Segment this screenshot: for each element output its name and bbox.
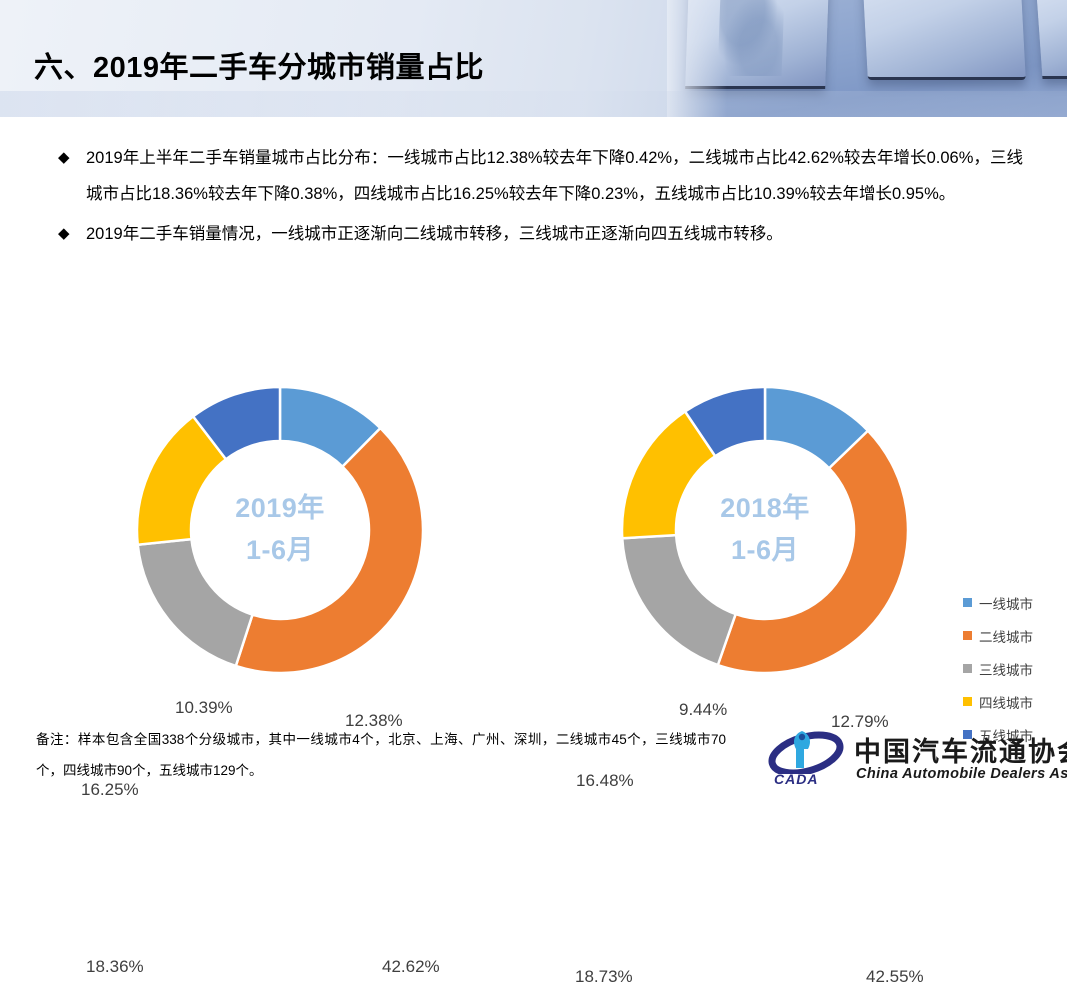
- list-item: ◆ 2019年二手车销量情况，一线城市正逐渐向二线城市转移，三线城市正逐渐向四五…: [58, 216, 1023, 252]
- legend-color-swatch: [963, 631, 972, 640]
- legend-item-label: 四线城市: [979, 692, 1033, 712]
- decorative-cube: [685, 0, 829, 89]
- decorative-cube: [862, 0, 1026, 80]
- list-item: ◆ 2019年上半年二手车销量城市占比分布：一线城市占比12.38%较去年下降0…: [58, 140, 1023, 212]
- footnote-text: 备注：样本包含全国338个分级城市，其中一线城市4个，北京、上海、广州、深圳，二…: [36, 724, 726, 786]
- donut-chart-2019: 2019年 1-6月: [134, 384, 426, 676]
- donut-chart-2018: 2018年 1-6月: [619, 384, 911, 676]
- legend-color-swatch: [963, 598, 972, 607]
- legend-color-swatch: [963, 697, 972, 706]
- legend-item-label: 三线城市: [979, 659, 1033, 679]
- diamond-bullet-icon: ◆: [58, 140, 86, 176]
- charts-container: 2019年 1-6月 12.38% 42.62% 18.36% 16.25% 1…: [0, 330, 1067, 710]
- legend-color-swatch: [963, 664, 972, 673]
- cada-abbreviation: CADA: [774, 771, 818, 787]
- page-title: 六、2019年二手车分城市销量占比: [34, 44, 484, 86]
- donut-chart-2018-svg: [619, 384, 911, 676]
- page-header: 六、2019年二手车分城市销量占比: [0, 0, 1067, 117]
- donut-slice-二线城市[interactable]: [236, 428, 423, 673]
- legend-item-tier4[interactable]: 四线城市: [963, 685, 1063, 718]
- bullet-text: 2019年二手车销量情况，一线城市正逐渐向二线城市转移，三线城市正逐渐向四五线城…: [86, 216, 1023, 252]
- slice-label-2019-tier2: 42.62%: [382, 957, 440, 977]
- slice-label-2018-tier3: 18.73%: [575, 967, 633, 987]
- cada-name-en: China Automobile Dealers Association: [856, 766, 1067, 782]
- legend-item-label: 二线城市: [979, 626, 1033, 646]
- header-sheen: [0, 91, 1067, 117]
- donut-slice-三线城市[interactable]: [622, 535, 735, 665]
- slice-label-2019-tier5: 10.39%: [175, 698, 233, 718]
- bullet-list: ◆ 2019年上半年二手车销量城市占比分布：一线城市占比12.38%较去年下降0…: [58, 140, 1023, 256]
- legend-item-tier2[interactable]: 二线城市: [963, 619, 1063, 652]
- legend-item-tier3[interactable]: 三线城市: [963, 652, 1063, 685]
- slice-label-2018-tier2: 42.55%: [866, 967, 924, 987]
- donut-slice-三线城市[interactable]: [138, 539, 253, 666]
- cada-name-cn: 中国汽车流通协会: [854, 730, 1067, 769]
- bullet-text: 2019年上半年二手车销量城市占比分布：一线城市占比12.38%较去年下降0.4…: [86, 140, 1023, 212]
- legend-item-tier1[interactable]: 一线城市: [963, 586, 1063, 619]
- slice-label-2019-tier3: 18.36%: [86, 957, 144, 977]
- cada-emblem-icon: [768, 728, 844, 774]
- slice-label-2018-tier5: 9.44%: [679, 700, 727, 720]
- legend-item-label: 一线城市: [979, 593, 1033, 613]
- world-map-texture: [718, 0, 785, 76]
- donut-slice-二线城市[interactable]: [718, 431, 908, 673]
- donut-chart-2019-svg: [134, 384, 426, 676]
- cada-logo: CADA 中国汽车流通协会 China Automobile Dealers A…: [768, 726, 1058, 790]
- decorative-cube: [1035, 0, 1067, 79]
- diamond-bullet-icon: ◆: [58, 216, 86, 252]
